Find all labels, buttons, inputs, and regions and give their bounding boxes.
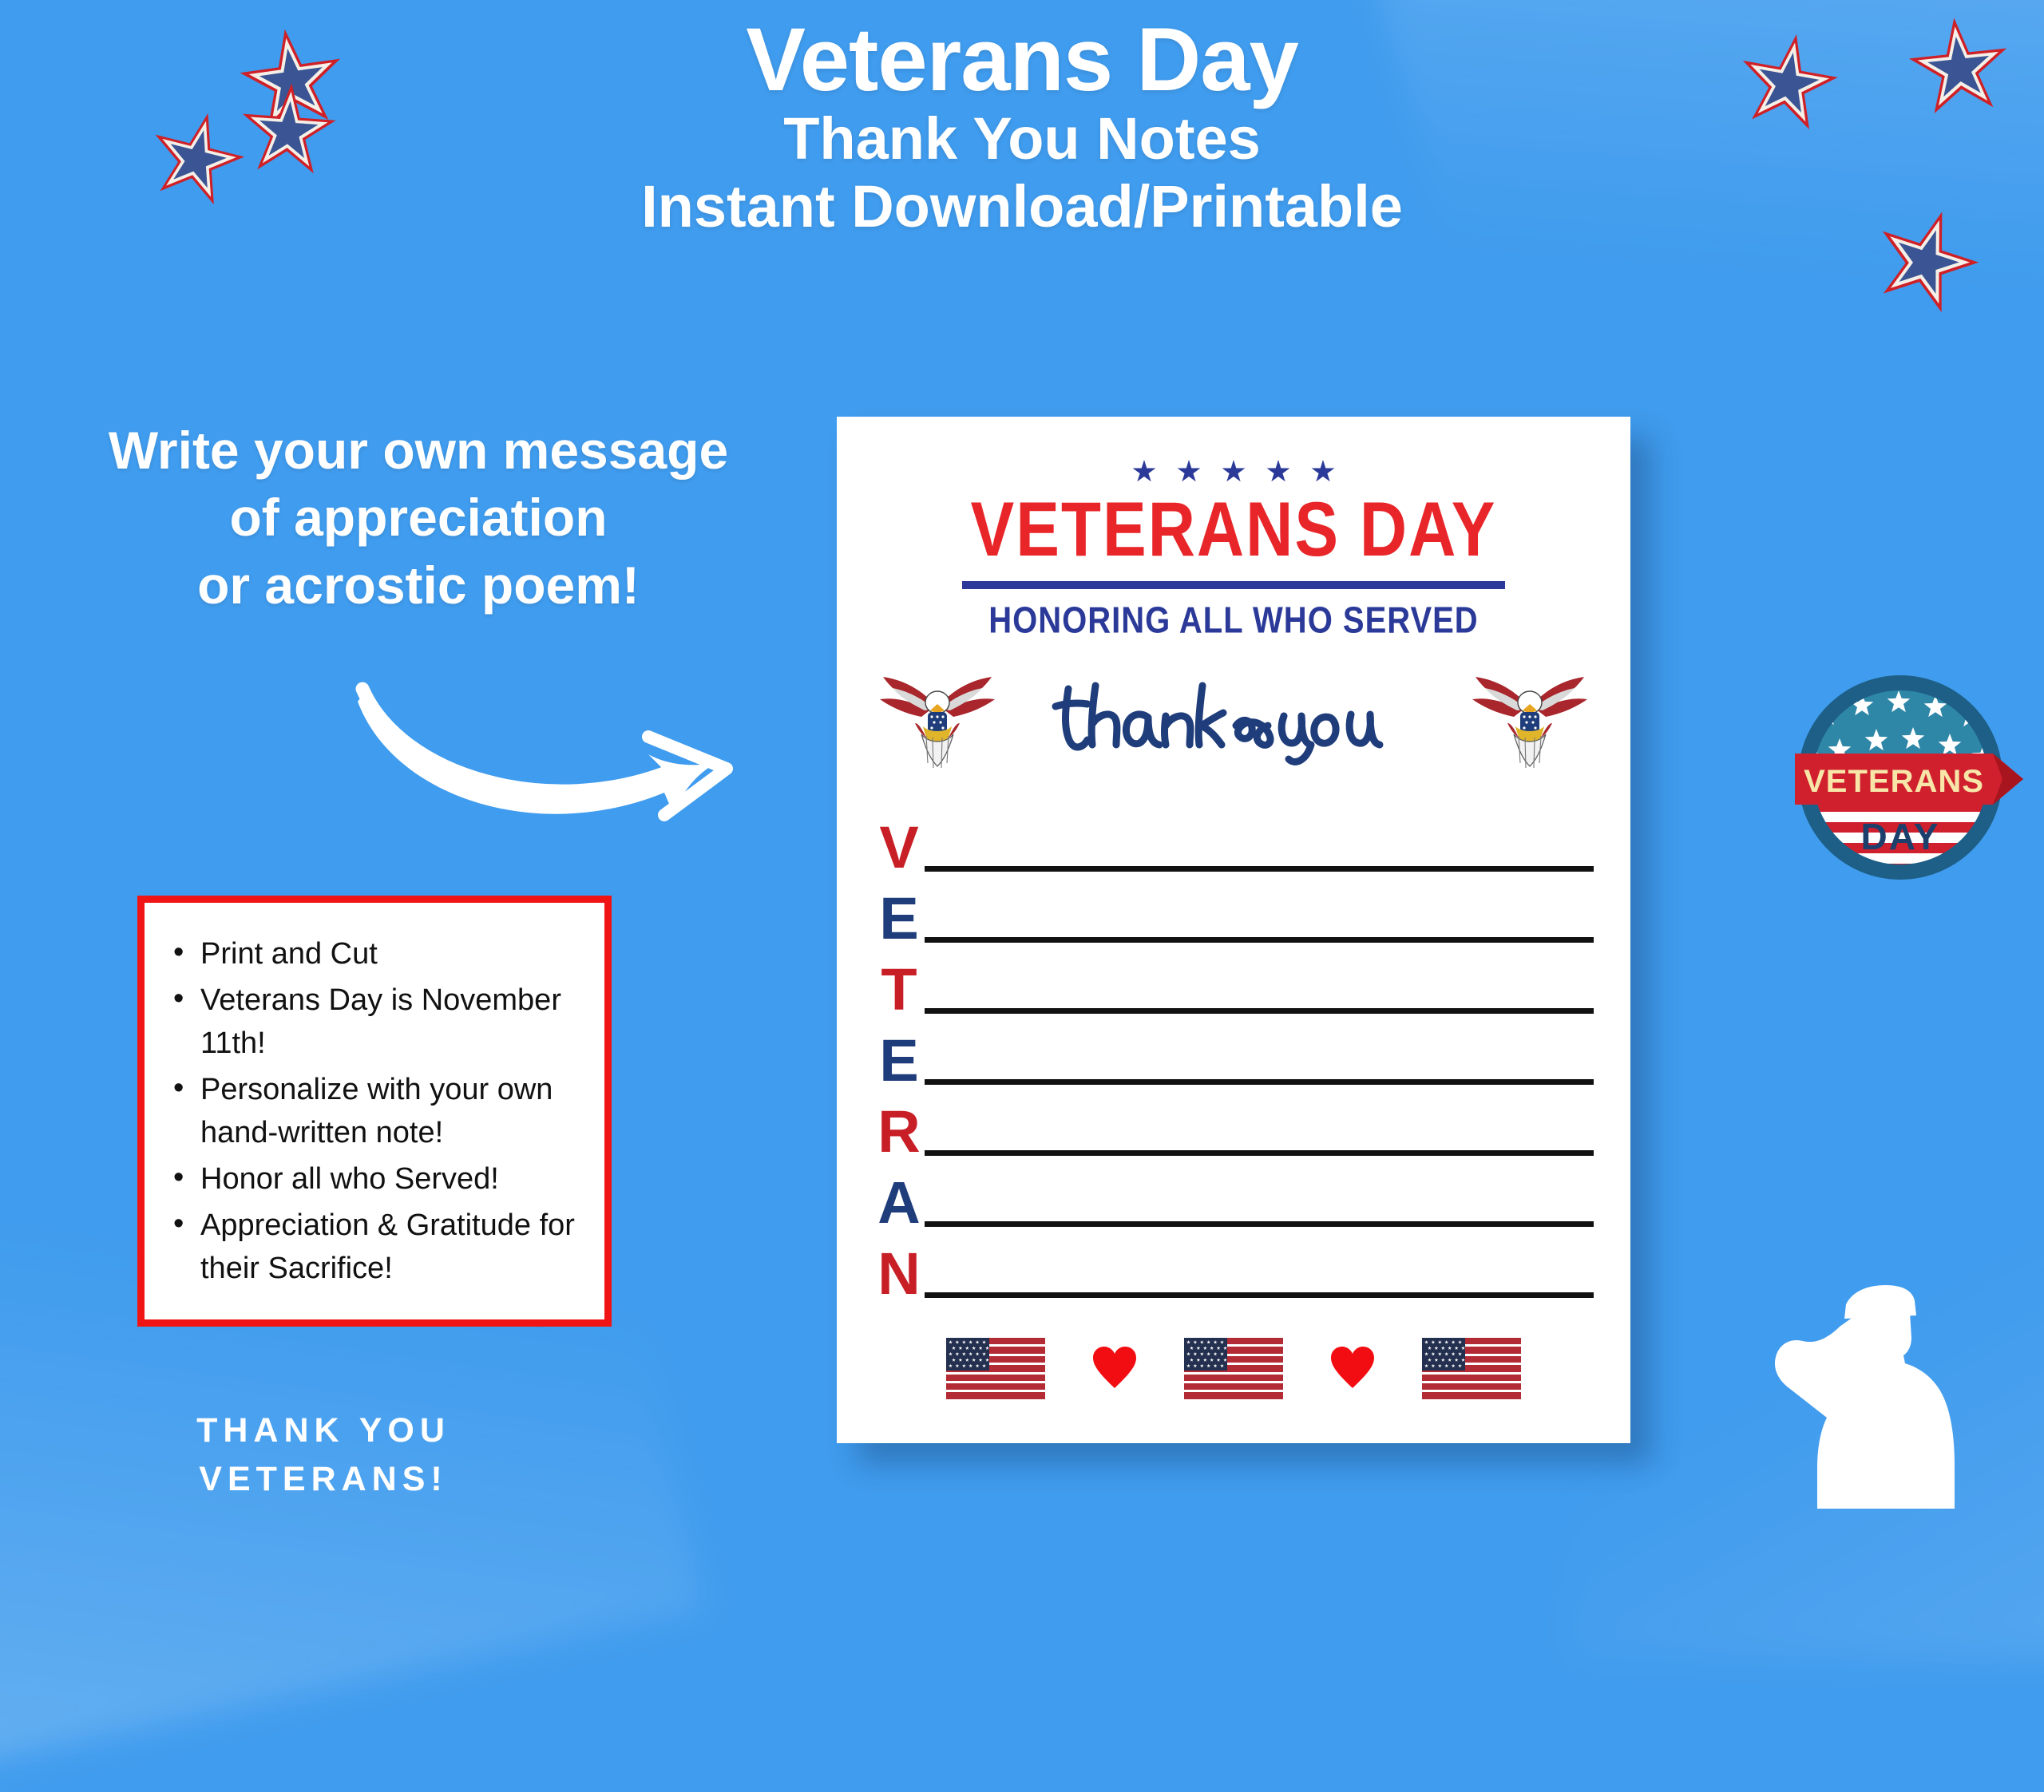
writing-line[interactable] (925, 937, 1594, 943)
thank-you-veterans-lockup: THANK YOU VETERANS! (136, 1406, 511, 1504)
card-star-icon (1177, 460, 1201, 484)
card-star-icon (1266, 460, 1290, 484)
acrostic-letter: N (873, 1247, 925, 1301)
thanks-line-1: THANK YOU (136, 1406, 511, 1455)
acrostic-letter: E (873, 1034, 925, 1088)
writing-line[interactable] (925, 1008, 1594, 1014)
list-item: Honor all who Served! (200, 1158, 584, 1201)
left-copy-line-3: or acrostic poem! (11, 552, 826, 619)
thank-you-script (1001, 671, 1466, 775)
thank-you-row (873, 663, 1594, 783)
card-subtitle: HONORING ALL WHO SERVED (873, 600, 1594, 642)
acrostic-row[interactable]: E (873, 1017, 1594, 1088)
printable-note-card[interactable]: VETERANS DAY HONORING ALL WHO SERVED (837, 417, 1630, 1443)
writing-line[interactable] (925, 1221, 1594, 1227)
thanks-line-2: VETERANS! (136, 1455, 511, 1504)
acrostic-row[interactable]: A (873, 1159, 1594, 1230)
badge-lower-text: DAY (1861, 816, 1940, 857)
acrostic-row[interactable]: T (873, 946, 1594, 1017)
acrostic-letter: V (873, 821, 925, 875)
left-copy-line-1: Write your own message (11, 417, 826, 484)
writing-line[interactable] (925, 866, 1594, 872)
feature-bullet-box: Print and CutVeterans Day is November 11… (137, 896, 612, 1327)
page-title: Veterans Day Thank You Notes Instant Dow… (0, 14, 2044, 240)
acrostic-letter: A (873, 1176, 925, 1230)
left-promo-copy: Write your own message of appreciation o… (11, 417, 826, 619)
card-star-icon (1222, 460, 1246, 484)
list-item: Print and Cut (200, 933, 584, 976)
writing-line[interactable] (925, 1292, 1594, 1298)
us-flag-icon (1184, 1338, 1283, 1398)
list-item: Personalize with your own hand-written n… (200, 1069, 584, 1155)
thank-you-script-svg (1046, 671, 1421, 775)
saluting-soldier-silhouette (1741, 1269, 2004, 1533)
acrostic-letter: E (873, 892, 925, 946)
eagle-icon-left (873, 667, 1001, 779)
card-divider-rule (962, 581, 1505, 589)
eagle-icon-right (1466, 667, 1594, 779)
heart-icon (1091, 1345, 1138, 1391)
list-item: Appreciation & Gratitude for their Sacri… (200, 1205, 584, 1291)
acrostic-row[interactable]: N (873, 1230, 1594, 1301)
badge-ribbon-text: VETERANS (1804, 764, 1984, 799)
heart-icon (1329, 1345, 1376, 1391)
card-star-row (873, 460, 1594, 484)
card-footer-strip (873, 1338, 1594, 1398)
writing-line[interactable] (925, 1150, 1594, 1156)
card-title: VETERANS DAY (873, 492, 1594, 569)
acrostic-writing-area[interactable]: VETERAN (873, 804, 1594, 1301)
acrostic-row[interactable]: R (873, 1088, 1594, 1159)
headline-line-2: Thank You Notes (0, 105, 2044, 172)
writing-line[interactable] (925, 1079, 1594, 1085)
acrostic-row[interactable]: V (873, 804, 1594, 875)
acrostic-row[interactable]: E (873, 875, 1594, 946)
acrostic-letter: T (873, 963, 925, 1017)
veterans-day-badge: VETERANS DAY (1793, 667, 2023, 889)
curved-arrow-icon (351, 674, 782, 874)
us-flag-icon (1422, 1338, 1521, 1398)
card-star-icon (1311, 460, 1335, 484)
bullet-list: Print and CutVeterans Day is November 11… (156, 933, 584, 1291)
headline-line-3: Instant Download/Printable (0, 173, 2044, 240)
us-flag-icon (946, 1338, 1045, 1398)
list-item: Veterans Day is November 11th! (200, 979, 584, 1066)
acrostic-letter: R (873, 1105, 925, 1159)
left-copy-line-2: of appreciation (11, 484, 826, 551)
headline-line-1: Veterans Day (0, 14, 2044, 105)
card-star-icon (1132, 460, 1156, 484)
